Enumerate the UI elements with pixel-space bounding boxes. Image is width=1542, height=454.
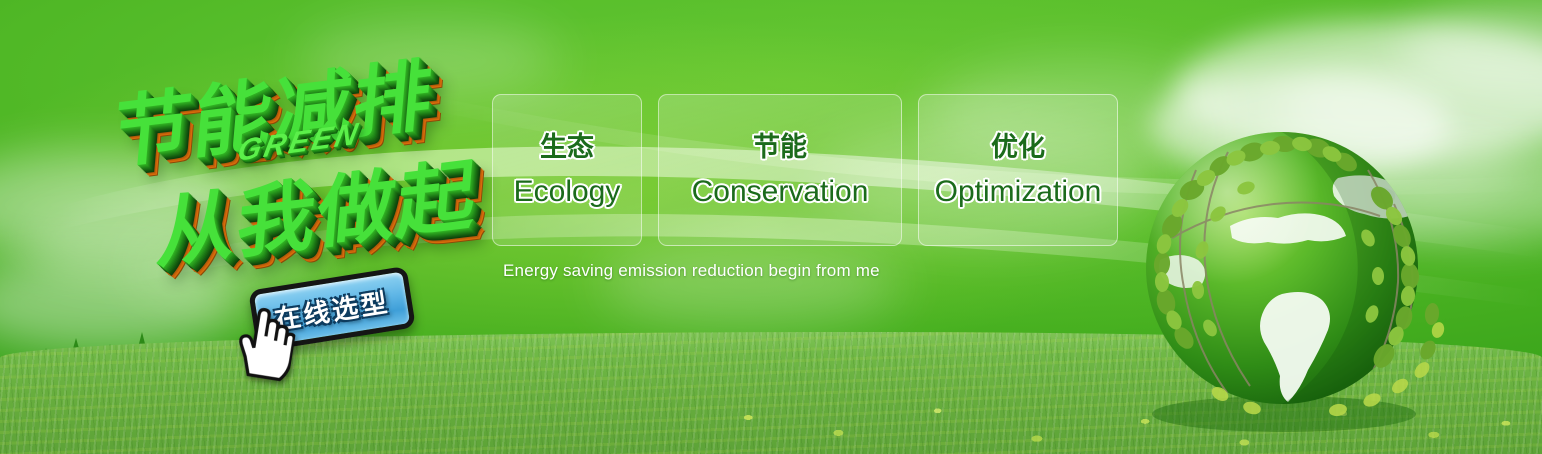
feature-card-cn-label: 生态	[540, 134, 594, 161]
hero-banner: 节能减排 GREEN 从我做起 在线选型 生态 Ecology 节能 Conse…	[0, 0, 1542, 454]
feature-card-ecology[interactable]: 生态 Ecology	[492, 94, 642, 246]
feature-card-en-label: Ecology	[514, 177, 621, 207]
feature-card-en-label: Conservation	[692, 177, 869, 207]
feature-card-cn-label: 优化	[991, 134, 1045, 161]
hand-pointer-icon	[230, 300, 299, 384]
feature-card-conservation[interactable]: 节能 Conservation	[658, 94, 902, 246]
feature-card-en-label: Optimization	[935, 177, 1102, 207]
banner-tagline: Energy saving emission reduction begin f…	[503, 261, 880, 281]
feature-card-list: 生态 Ecology 节能 Conservation 优化 Optimizati…	[492, 94, 1118, 246]
feature-card-optimization[interactable]: 优化 Optimization	[918, 94, 1118, 246]
feature-card-cn-label: 节能	[753, 134, 807, 161]
leafy-globe-icon	[1132, 118, 1448, 434]
